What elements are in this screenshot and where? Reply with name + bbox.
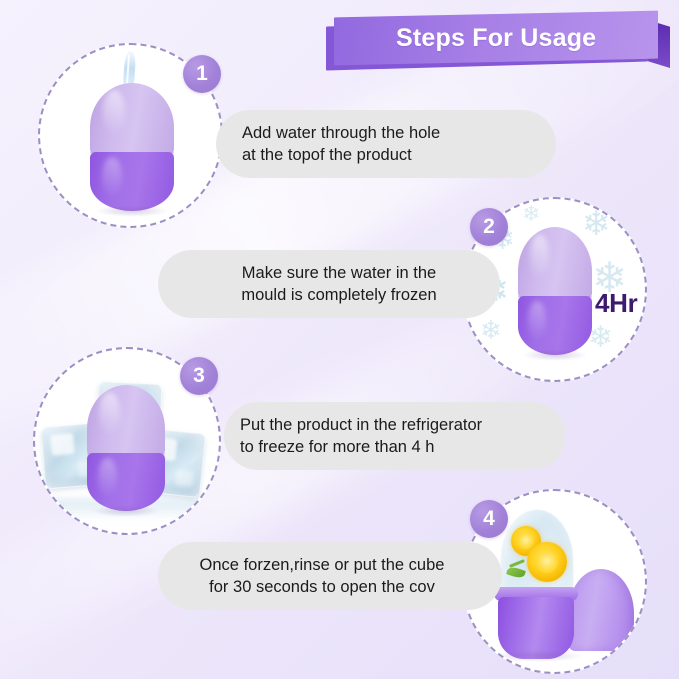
step-1-text: Add water through the hole at the topof … <box>242 122 440 166</box>
capsule-product-step-2 <box>518 227 592 355</box>
capsule-body <box>87 453 165 511</box>
step-4-text: Once forzen,rinse or put the cube for 30… <box>170 554 502 598</box>
dandelion-flower-icon <box>527 542 567 582</box>
page-title: Steps For Usage <box>396 24 596 53</box>
step-3-text-pill: Put the product in the refrigerator to f… <box>224 402 566 470</box>
capsule-body <box>90 152 174 211</box>
capsule-shadow <box>522 349 587 361</box>
step-3-number-badge: 3 <box>180 357 218 395</box>
capsule-product-step-3 <box>87 385 165 511</box>
capsule-cap <box>90 83 174 155</box>
freeze-duration-label: 4Hr <box>595 288 637 319</box>
dandelion-leaf <box>506 565 526 579</box>
step-2-number-badge: 2 <box>470 208 508 246</box>
capsule-body <box>518 296 592 355</box>
dandelion-ice-cube <box>500 509 574 595</box>
step-4-text-pill: Once forzen,rinse or put the cube for 30… <box>158 542 502 610</box>
step-2-text-pill: Make sure the water in the mould is comp… <box>158 250 500 318</box>
title-banner-body: Steps For Usage <box>334 11 658 66</box>
capsule-shadow <box>95 205 169 217</box>
capsule-cap <box>518 227 592 299</box>
step-1-number-badge: 1 <box>183 55 221 93</box>
snowflake-icon: ❄ <box>480 317 502 343</box>
capsule-cap <box>87 385 165 456</box>
step-1-text-pill: Add water through the hole at the topof … <box>216 110 556 178</box>
capsule-shadow <box>92 505 161 517</box>
step-3-text: Put the product in the refrigerator to f… <box>240 414 482 458</box>
snowflake-icon: ❄ <box>522 203 540 225</box>
title-banner: Steps For Usage <box>334 12 670 70</box>
capsule-lid <box>568 569 634 651</box>
capsule-product-step-1 <box>90 83 174 211</box>
step-2-text: Make sure the water in the mould is comp… <box>206 262 500 306</box>
step-4-number-badge: 4 <box>470 500 508 538</box>
infographic-root: Steps For Usage 1 Add water through the … <box>0 0 679 679</box>
capsule-shadow <box>492 650 584 662</box>
